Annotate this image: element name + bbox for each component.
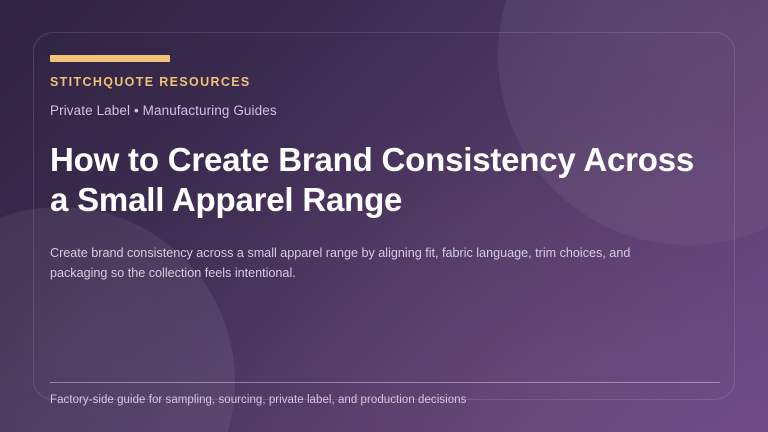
page-title: How to Create Brand Consistency Across a…	[50, 140, 720, 221]
accent-bar	[50, 55, 170, 62]
title-slide: STITCHQUOTE RESOURCES Private Label • Ma…	[0, 0, 768, 432]
subtitle-breadcrumb: Private Label • Manufacturing Guides	[50, 103, 720, 118]
description-text: Create brand consistency across a small …	[50, 243, 690, 284]
slide-footer: Factory-side guide for sampling, sourcin…	[50, 382, 720, 406]
eyebrow-label: STITCHQUOTE RESOURCES	[50, 75, 720, 89]
footer-divider	[50, 382, 720, 383]
footer-note: Factory-side guide for sampling, sourcin…	[50, 394, 720, 406]
slide-content: STITCHQUOTE RESOURCES Private Label • Ma…	[50, 55, 720, 296]
